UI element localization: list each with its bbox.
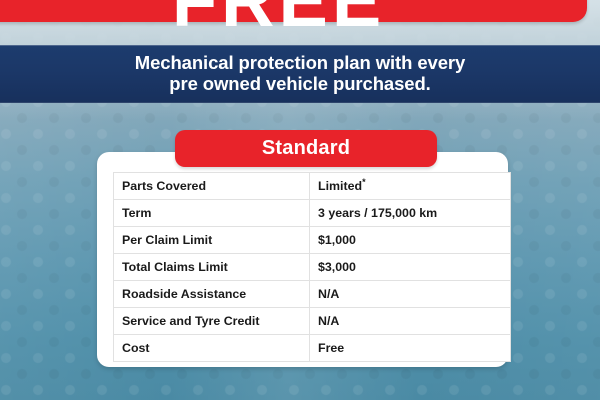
row-value-text: $1,000: [318, 233, 356, 247]
plan-spec-table: Parts Covered Limited* Term 3 years / 17…: [113, 172, 511, 362]
row-label: Parts Covered: [114, 173, 310, 200]
subtitle-text: Mechanical protection plan with every pr…: [115, 53, 485, 94]
plan-spec-table-body: Parts Covered Limited* Term 3 years / 17…: [114, 173, 511, 362]
subtitle-line-1: Mechanical protection plan with every: [135, 52, 465, 73]
table-row: Term 3 years / 175,000 km: [114, 200, 511, 227]
table-row: Parts Covered Limited*: [114, 173, 511, 200]
row-value-text: Limited: [318, 179, 362, 193]
table-row: Roadside Assistance N/A: [114, 281, 511, 308]
row-value-text: Free: [318, 341, 344, 355]
subtitle-line-2: pre owned vehicle purchased.: [169, 73, 430, 94]
row-label: Service and Tyre Credit: [114, 308, 310, 335]
footnote-mark: *: [362, 177, 366, 187]
free-banner: FREE: [0, 0, 587, 22]
row-label: Term: [114, 200, 310, 227]
row-value: $3,000: [310, 254, 511, 281]
row-label: Cost: [114, 335, 310, 362]
row-label: Per Claim Limit: [114, 227, 310, 254]
row-value: N/A: [310, 281, 511, 308]
plan-tier-label: Standard: [262, 137, 350, 160]
row-value-text: 3 years / 175,000 km: [318, 206, 437, 220]
row-value: Free: [310, 335, 511, 362]
table-row: Cost Free: [114, 335, 511, 362]
row-label: Roadside Assistance: [114, 281, 310, 308]
table-row: Per Claim Limit $1,000: [114, 227, 511, 254]
subtitle-band: Mechanical protection plan with every pr…: [0, 45, 600, 103]
row-value-text: N/A: [318, 287, 339, 301]
row-value: N/A: [310, 308, 511, 335]
free-headline: FREE: [0, 0, 587, 38]
row-label: Total Claims Limit: [114, 254, 310, 281]
table-row: Service and Tyre Credit N/A: [114, 308, 511, 335]
plan-tier-badge: Standard: [175, 130, 437, 167]
row-value: 3 years / 175,000 km: [310, 200, 511, 227]
promo-poster: FREE Mechanical protection plan with eve…: [0, 0, 600, 400]
row-value: $1,000: [310, 227, 511, 254]
table-row: Total Claims Limit $3,000: [114, 254, 511, 281]
row-value: Limited*: [310, 173, 511, 200]
row-value-text: $3,000: [318, 260, 356, 274]
row-value-text: N/A: [318, 314, 339, 328]
